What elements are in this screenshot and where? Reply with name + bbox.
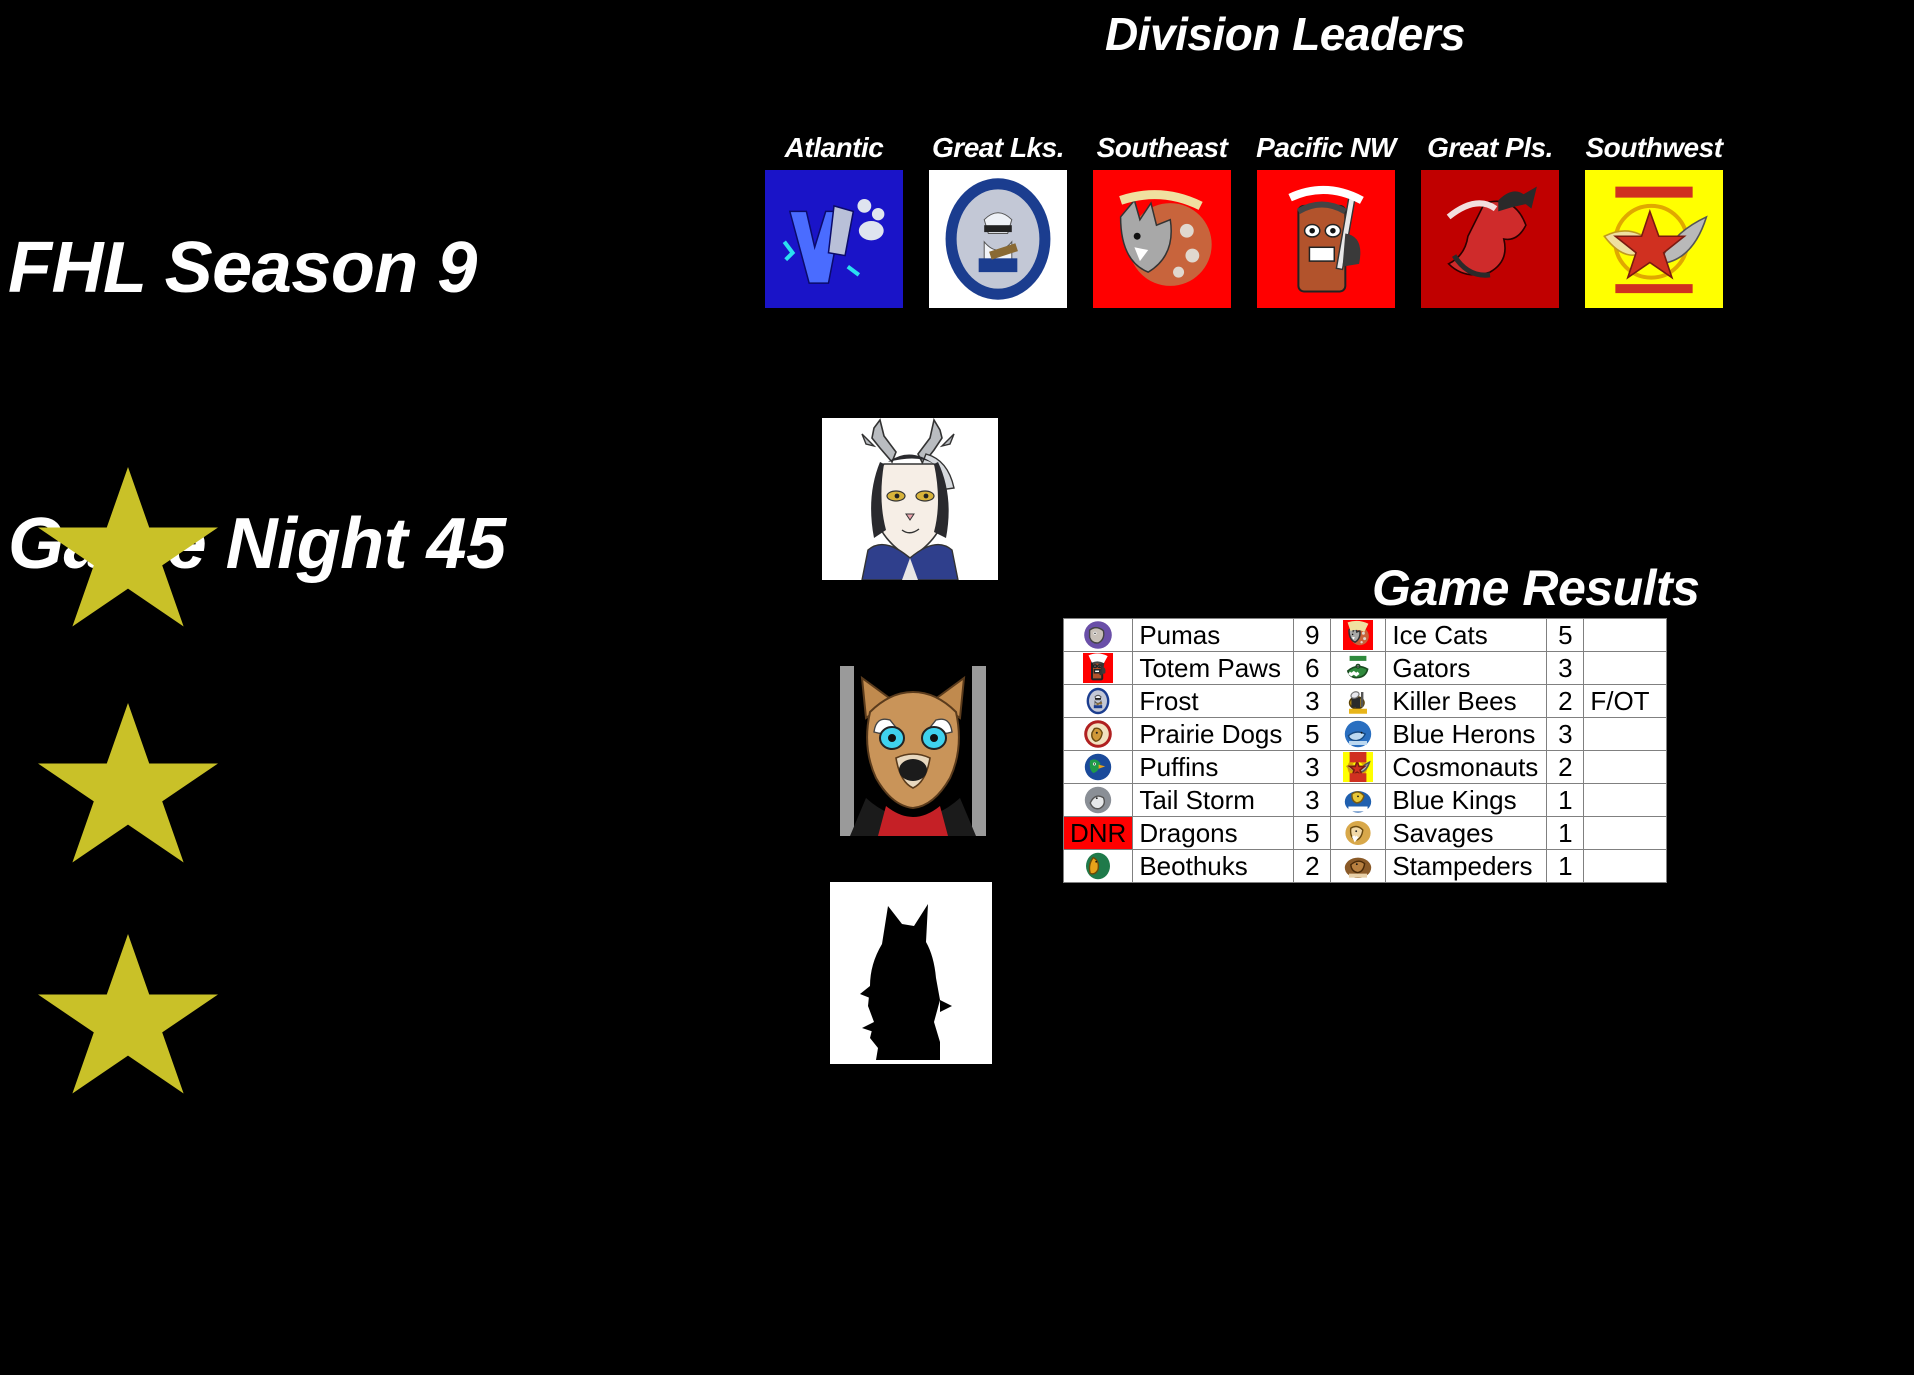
prairie-dogs-logo	[1064, 718, 1133, 751]
star-badge-1st	[38, 467, 218, 639]
game-note	[1584, 652, 1667, 685]
table-row: Prairie Dogs5 Blue Herons3	[1064, 718, 1667, 751]
paskhowl-portrait	[826, 666, 998, 836]
away-team-name: Cosmonauts	[1386, 751, 1547, 784]
home-team-score: 3	[1294, 685, 1331, 718]
home-team-name: Totem Paws	[1133, 652, 1294, 685]
home-team-name: Prairie Dogs	[1133, 718, 1294, 751]
away-team-score: 3	[1547, 718, 1584, 751]
division-cell-great-pls: Great Pls.	[1416, 132, 1564, 308]
away-team-score: 5	[1547, 619, 1584, 652]
division-leaders-strip: Atlantic Great Lks. Southeast Pacific NW	[760, 132, 1728, 308]
blue-herons-logo	[1331, 718, 1386, 751]
beothuks-logo	[1064, 850, 1133, 883]
lexington-stallions-logo	[1421, 170, 1559, 308]
game-note: F/OT	[1584, 685, 1667, 718]
home-team-score: 2	[1294, 850, 1331, 883]
puffins-logo	[1064, 751, 1133, 784]
division-label: Great Lks.	[932, 132, 1064, 164]
stampeders-logo	[1331, 850, 1386, 883]
home-team-name: Pumas	[1133, 619, 1294, 652]
away-team-score: 2	[1547, 685, 1584, 718]
star-badge-3rd	[38, 934, 218, 1106]
rank-block-3rd	[0, 869, 760, 1101]
star-icon	[38, 934, 218, 1106]
away-team-name: Savages	[1386, 817, 1547, 850]
home-team-name: Tail Storm	[1133, 784, 1294, 817]
home-team-score: 5	[1294, 718, 1331, 751]
charisa-portrait	[822, 418, 998, 580]
jace-darkmatter-portrait	[830, 882, 992, 1064]
division-label: Great Pls.	[1427, 132, 1553, 164]
game-note	[1584, 817, 1667, 850]
away-team-score: 2	[1547, 751, 1584, 784]
home-team-score: 5	[1294, 817, 1331, 850]
game-note	[1584, 784, 1667, 817]
away-team-score: 3	[1547, 652, 1584, 685]
star-badge-2nd	[38, 703, 218, 875]
game-note	[1584, 718, 1667, 751]
hamilton-wanderers-logo	[765, 170, 903, 308]
game-results-heading: Game Results	[1372, 560, 1699, 616]
rank-block-2nd	[0, 637, 760, 869]
home-team-name: Puffins	[1133, 751, 1294, 784]
away-team-name: Gators	[1386, 652, 1547, 685]
table-row: Totem Paws6 Gators3	[1064, 652, 1667, 685]
home-team-name: Dragons	[1133, 817, 1294, 850]
division-cell-pacific-nw: Pacific NW	[1252, 132, 1400, 308]
portland-pumas-logo	[1064, 619, 1133, 652]
killer-bees-logo	[1331, 685, 1386, 718]
table-row: Puffins3 Cosmonauts2	[1064, 751, 1667, 784]
dnr-badge: DNR	[1064, 817, 1133, 850]
savages-logo	[1331, 817, 1386, 850]
away-team-name: Blue Kings	[1386, 784, 1547, 817]
away-team-name: Blue Herons	[1386, 718, 1547, 751]
home-team-score: 6	[1294, 652, 1331, 685]
table-row: Frost3 Killer Bees2F/OT	[1064, 685, 1667, 718]
victoria-totem-paws-logo	[1064, 652, 1133, 685]
game-note	[1584, 619, 1667, 652]
blue-kings-logo	[1331, 784, 1386, 817]
houston-cosmonauts-logo	[1331, 751, 1386, 784]
game-note	[1584, 751, 1667, 784]
division-cell-atlantic: Atlantic	[760, 132, 908, 308]
star-icon	[38, 467, 218, 639]
star-icon	[38, 703, 218, 875]
division-leaders-heading: Division Leaders	[1105, 8, 1465, 60]
star-rankings-list	[0, 405, 760, 1101]
division-label: Atlantic	[785, 132, 884, 164]
division-label: Southwest	[1585, 132, 1722, 164]
division-label: Pacific NW	[1256, 132, 1396, 164]
jacksonville-gators-logo	[1331, 652, 1386, 685]
table-row: Beothuks2 Stampeders1	[1064, 850, 1667, 883]
home-team-score: 3	[1294, 751, 1331, 784]
away-team-name: Stampeders	[1386, 850, 1547, 883]
london-frost-logo	[929, 170, 1067, 308]
home-team-score: 3	[1294, 784, 1331, 817]
away-team-score: 1	[1547, 817, 1584, 850]
houston-cosmonauts-logo	[1585, 170, 1723, 308]
home-team-name: Frost	[1133, 685, 1294, 718]
division-cell-southwest: Southwest	[1580, 132, 1728, 308]
table-row: Pumas9 Ice Cats5	[1064, 619, 1667, 652]
division-cell-southeast: Southeast	[1088, 132, 1236, 308]
game-results-table: Pumas9 Ice Cats5 Totem Paws6 Gators3	[1063, 618, 1667, 883]
london-frost-logo	[1064, 685, 1133, 718]
division-label: Southeast	[1097, 132, 1228, 164]
home-team-score: 9	[1294, 619, 1331, 652]
raleigh-ice-cats-logo	[1093, 170, 1231, 308]
page-title-line1: FHL Season 9	[8, 222, 506, 314]
game-note	[1584, 850, 1667, 883]
away-team-name: Ice Cats	[1386, 619, 1547, 652]
home-team-name: Beothuks	[1133, 850, 1294, 883]
victoria-totem-paws-logo	[1257, 170, 1395, 308]
division-cell-great-lks: Great Lks.	[924, 132, 1072, 308]
table-row: Tail Storm3 Blue Kings1	[1064, 784, 1667, 817]
away-team-score: 1	[1547, 850, 1584, 883]
table-row: DNRDragons5 Savages1	[1064, 817, 1667, 850]
away-team-score: 1	[1547, 784, 1584, 817]
rank-block-1st	[0, 405, 760, 637]
tail-storm-logo	[1064, 784, 1133, 817]
raleigh-ice-cats-logo	[1331, 619, 1386, 652]
away-team-name: Killer Bees	[1386, 685, 1547, 718]
